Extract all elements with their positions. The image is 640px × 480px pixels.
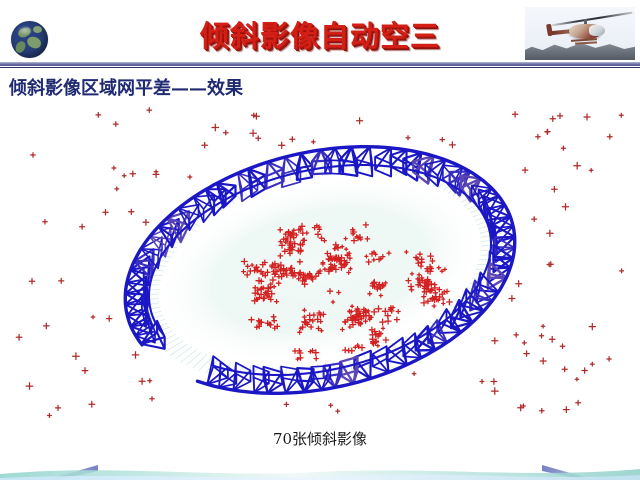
wave-swoosh-icon <box>0 452 640 480</box>
helicopter-cabin <box>589 25 605 36</box>
camera-network-visualization <box>0 102 640 422</box>
presentation-slide: 倾斜影像自动空三 倾斜影像区域网平差——效果 <box>0 0 640 480</box>
slide-header: 倾斜影像自动空三 <box>0 0 640 68</box>
section-subtitle: 倾斜影像区域网平差——效果 <box>9 74 243 100</box>
header-divider-line <box>0 67 640 68</box>
helicopter-skid <box>575 41 597 44</box>
aerial-triangulation-plot <box>0 102 640 422</box>
figure-caption: 70张倾斜影像 <box>0 428 640 449</box>
helicopter-aerial-photo <box>525 7 635 60</box>
footer-decoration <box>0 452 640 480</box>
